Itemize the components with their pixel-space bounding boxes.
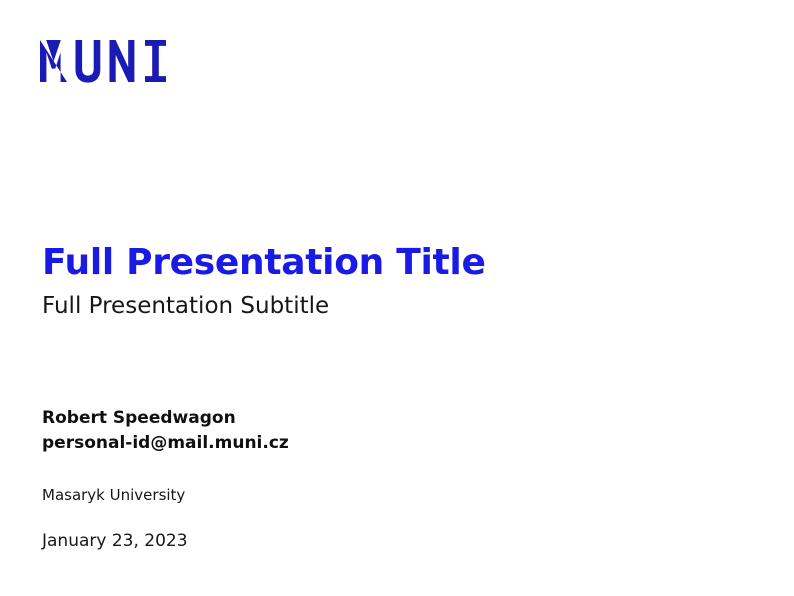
title-slide: Full Presentation Title Full Presentatio… [0, 0, 794, 596]
title-block: Full Presentation Title Full Presentatio… [42, 243, 742, 321]
muni-logo-icon [40, 40, 180, 84]
slide-subtitle: Full Presentation Subtitle [42, 293, 742, 321]
muni-logo [40, 40, 180, 84]
presentation-date: January 23, 2023 [42, 530, 188, 552]
author-block: Robert Speedwagon personal-id@mail.muni.… [42, 406, 742, 456]
slide-title: Full Presentation Title [42, 243, 742, 283]
author-name: Robert Speedwagon [42, 406, 742, 431]
author-email: personal-id@mail.muni.cz [42, 431, 742, 456]
institute-name: Masaryk University [42, 486, 185, 506]
